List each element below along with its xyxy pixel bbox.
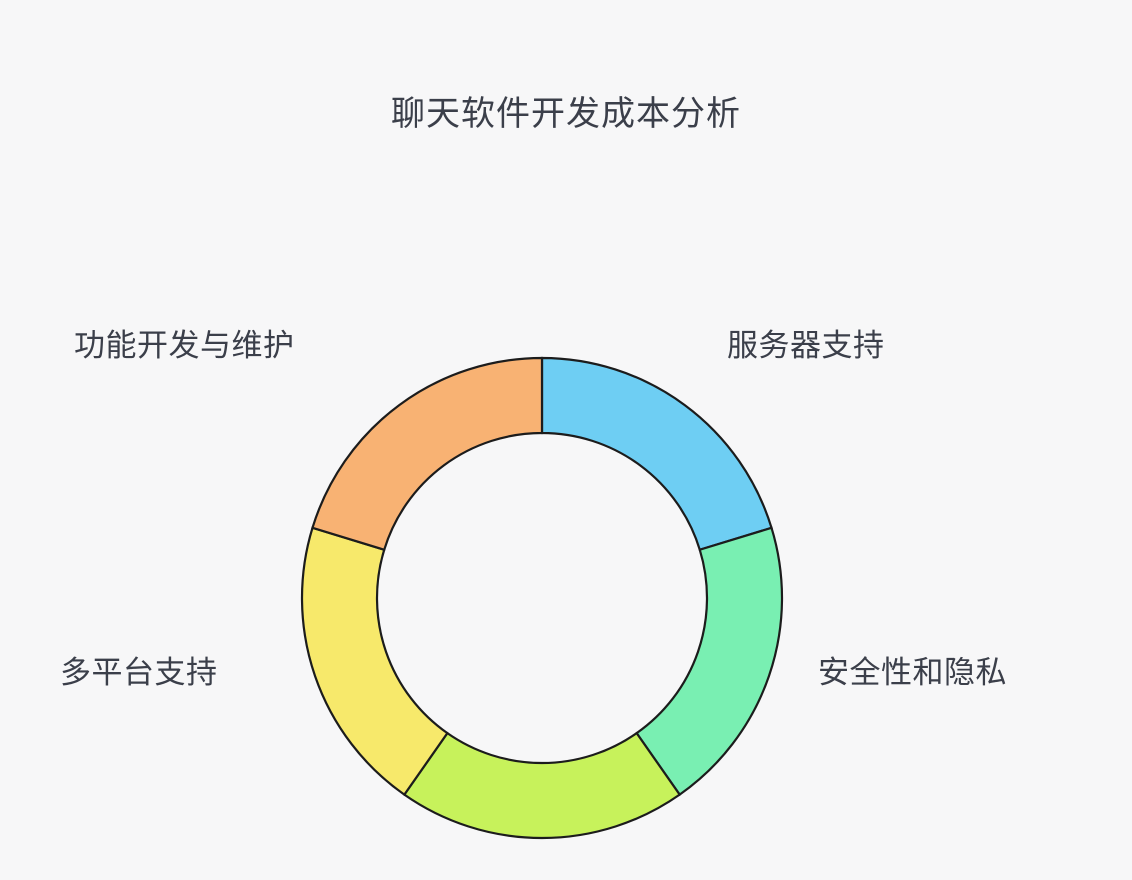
donut-svg [302,358,782,838]
donut-slice-2[interactable] [637,528,782,795]
donut-slice-4[interactable] [302,528,447,795]
slice-label-functionality: 功能开发与维护 [74,327,295,364]
slice-label-server-support: 服务器支持 [727,327,885,364]
slice-label-multiplatform: 多平台支持 [60,654,218,691]
donut-slice-3[interactable] [404,733,679,838]
chart-title: 聊天软件开发成本分析 [0,94,1132,135]
donut-slice-1[interactable] [542,358,772,550]
slice-label-security-privacy: 安全性和隐私 [818,654,1007,691]
donut-ring [302,358,782,838]
donut-slice-5[interactable] [312,358,542,550]
donut-slices [302,358,782,838]
donut-chart-figure: 聊天软件开发成本分析 功能开发与维护 服务器支持 多平台支持 安全性和隐私 [0,0,1132,880]
